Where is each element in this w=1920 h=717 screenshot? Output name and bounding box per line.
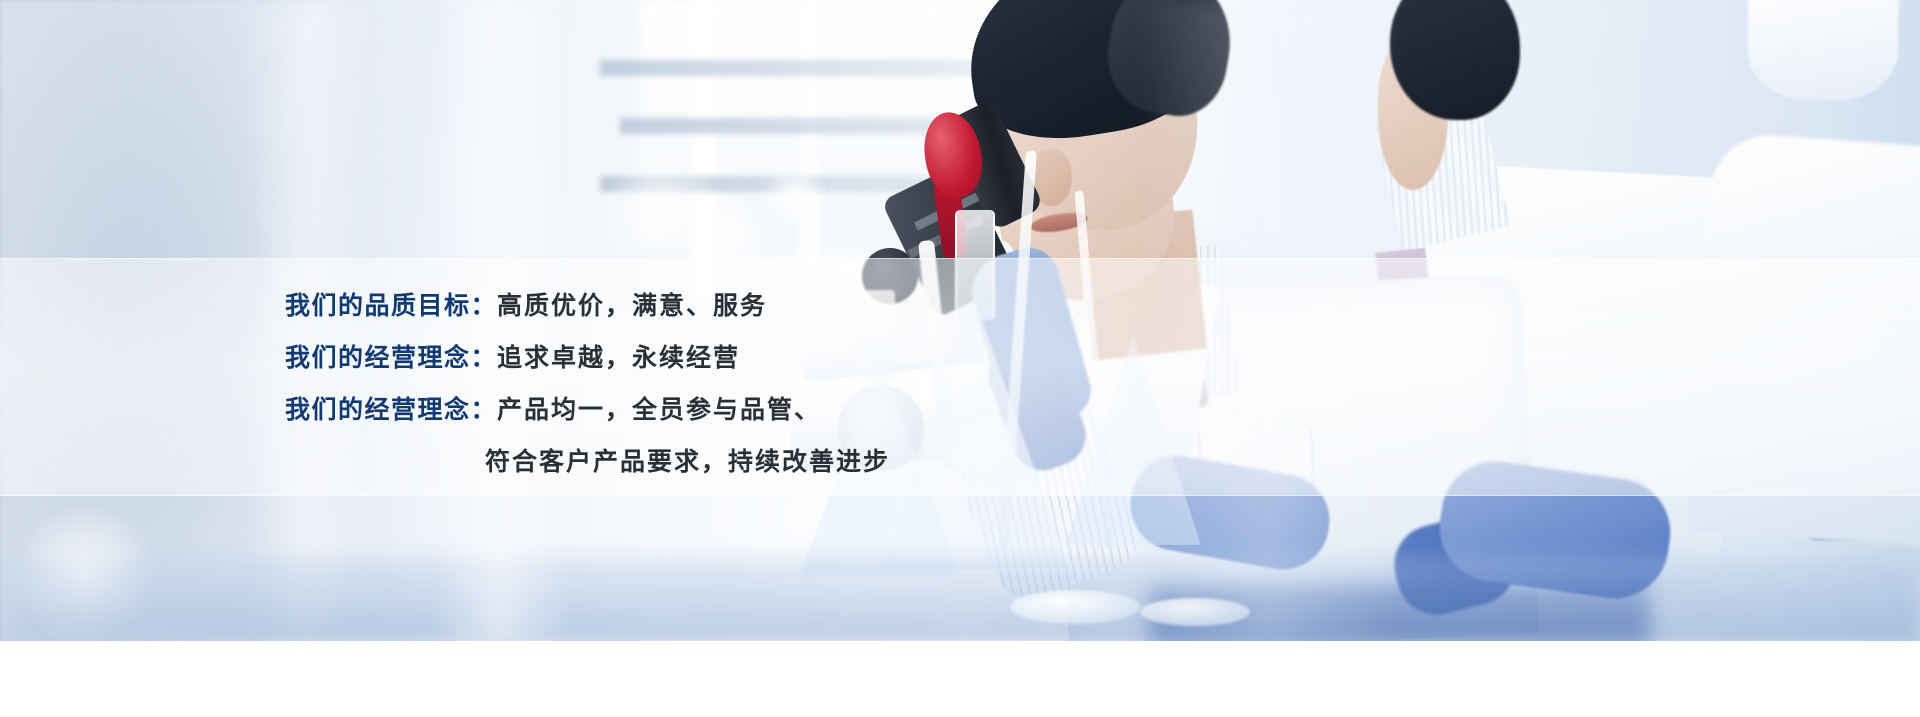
bokeh-glow [760, 160, 830, 230]
statement-label: 我们的经营理念： [285, 390, 497, 426]
hero-banner: 我们的品质目标： 高质优价，满意、服务 我们的经营理念： 追求卓越，永续经营 我… [0, 0, 1920, 717]
statement-row: 我们的经营理念： 产品均一，全员参与品管、 [285, 390, 1485, 426]
statement-label: 我们的经营理念： [285, 338, 497, 374]
statement-value: 追求卓越，永续经营 [497, 338, 740, 374]
statement-label: 我们的品质目标： [285, 286, 497, 322]
face-mask-icon [1748, 0, 1898, 100]
window-frame-secondary [800, 0, 818, 270]
statement-value: 产品均一，全员参与品管、 [497, 390, 821, 426]
statement-list: 我们的品质目标： 高质优价，满意、服务 我们的经营理念： 追求卓越，永续经营 我… [285, 286, 1485, 478]
statement-value: 高质优价，满意、服务 [497, 286, 767, 322]
statement-row: 我们的经营理念： 追求卓越，永续经营 [285, 338, 1485, 374]
statement-row: 我们的品质目标： 高质优价，满意、服务 [285, 286, 1485, 322]
statement-row-continuation: 符合客户产品要求，持续改善进步 [485, 442, 1485, 478]
statement-value: 符合客户产品要求，持续改善进步 [485, 442, 890, 478]
petri-dish [1010, 590, 1140, 624]
blind-slat [600, 60, 1020, 76]
